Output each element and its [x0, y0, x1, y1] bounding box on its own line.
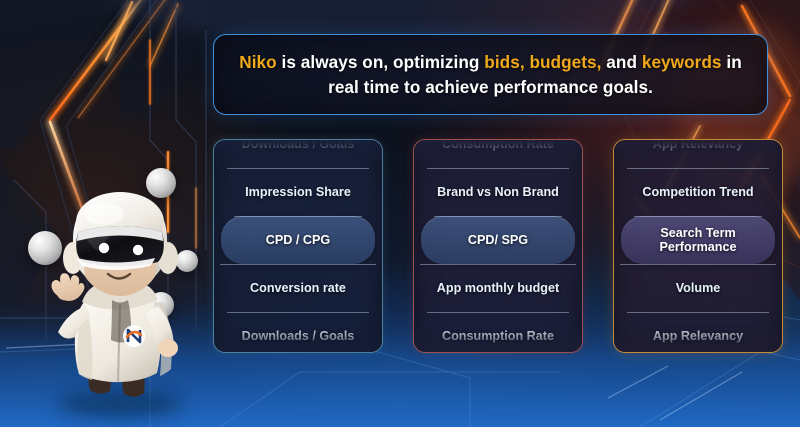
headline-text: Niko is always on, optimizing bids, budg… — [236, 50, 745, 100]
headline-highlight: keywords — [642, 52, 722, 72]
list-item[interactable]: Brand vs Non Brand — [414, 168, 582, 216]
column-3-list: App Relevancy Competition Trend Search T… — [614, 139, 782, 353]
list-item-active[interactable]: CPD / CPG — [221, 216, 375, 264]
headline-plain: and — [601, 52, 641, 72]
list-item-active[interactable]: CPD/ SPG — [421, 216, 575, 264]
list-item[interactable]: Competition Trend — [614, 168, 782, 216]
slide-canvas: Niko is always on, optimizing bids, budg… — [0, 0, 800, 427]
metric-column-3: App Relevancy Competition Trend Search T… — [613, 139, 783, 353]
mascot-eye — [133, 245, 143, 255]
list-item[interactable]: Downloads / Goals — [214, 312, 382, 353]
headline-highlight: Niko — [239, 52, 276, 72]
list-item[interactable]: App Relevancy — [614, 312, 782, 353]
list-item[interactable]: Downloads / Goals — [214, 139, 382, 168]
list-item[interactable]: Consumption Rate — [414, 139, 582, 168]
headline-plain: is always on, optimizing — [277, 52, 485, 72]
column-1-list: Downloads / Goals Impression Share CPD /… — [214, 139, 382, 353]
metric-column-2: Consumption Rate Brand vs Non Brand CPD/… — [413, 139, 583, 353]
metric-columns: Downloads / Goals Impression Share CPD /… — [213, 139, 783, 353]
list-item[interactable]: App Relevancy — [614, 139, 782, 168]
list-item[interactable]: Consumption Rate — [414, 312, 582, 353]
headline-banner: Niko is always on, optimizing bids, budg… — [213, 34, 768, 115]
mascot-logo — [123, 325, 145, 347]
headline-highlight: bids, budgets, — [484, 52, 601, 72]
list-item[interactable]: Volume — [614, 264, 782, 312]
column-2-list: Consumption Rate Brand vs Non Brand CPD/… — [414, 139, 582, 353]
list-item-active[interactable]: Search Term Performance — [621, 216, 775, 264]
niko-mascot — [28, 178, 208, 408]
list-item[interactable]: Impression Share — [214, 168, 382, 216]
metric-column-1: Downloads / Goals Impression Share CPD /… — [213, 139, 383, 353]
list-item[interactable]: Conversion rate — [214, 264, 382, 312]
mascot-head — [63, 192, 178, 296]
list-item[interactable]: App monthly budget — [414, 264, 582, 312]
